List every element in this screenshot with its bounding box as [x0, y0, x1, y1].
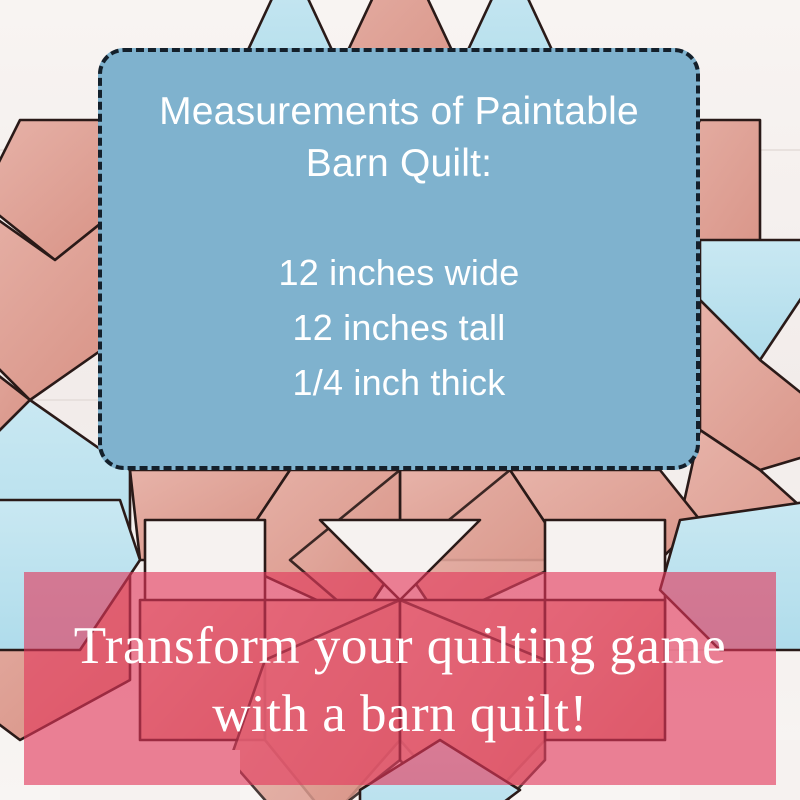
promo-line-1: Transform your quilting game: [74, 613, 726, 681]
card-title-line-2: Barn Quilt:: [159, 138, 639, 190]
card-title: Measurements of Paintable Barn Quilt:: [159, 86, 639, 190]
promo-banner: Transform your quilting game with a barn…: [24, 572, 776, 785]
measurement-thickness: 1/4 inch thick: [293, 356, 506, 409]
measurement-height: 12 inches tall: [293, 301, 506, 354]
measurement-width: 12 inches wide: [279, 246, 520, 299]
barn-quilt-promo-image: Measurements of Paintable Barn Quilt: 12…: [0, 0, 800, 800]
measurements-card: Measurements of Paintable Barn Quilt: 12…: [98, 48, 700, 470]
card-title-line-1: Measurements of Paintable: [159, 90, 639, 133]
promo-line-2: with a barn quilt!: [212, 681, 588, 749]
measurement-list: 12 inches wide 12 inches tall 1/4 inch t…: [279, 246, 520, 410]
